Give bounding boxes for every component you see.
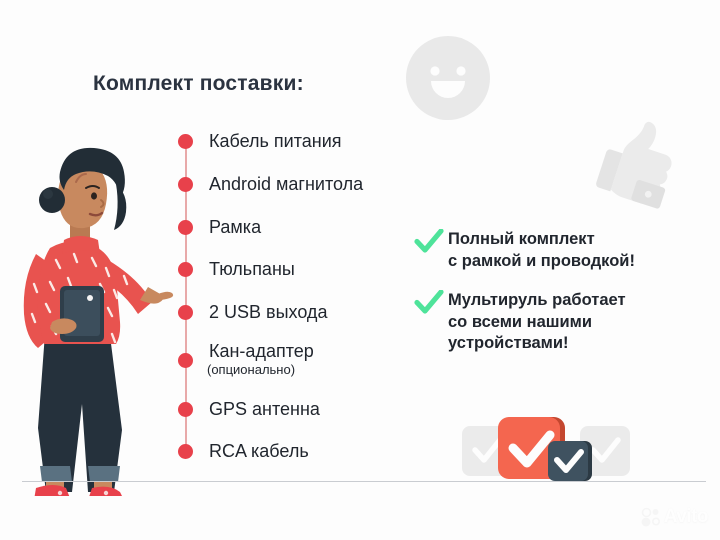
list-item-label: Android магнитола (209, 174, 363, 195)
thumbs-up-icon (580, 108, 692, 220)
page-title: Комплект поставки: (93, 72, 304, 96)
list-item-label: Тюльпаны (209, 259, 295, 280)
list-item: Кабель питания (178, 131, 342, 152)
benefit-line-1: Полный комплект (448, 230, 595, 248)
list-item-label: Кабель питания (209, 131, 342, 152)
benefit-line-3: устройствами! (448, 334, 569, 352)
woman-with-tablet-illustration (8, 108, 183, 496)
list-item-label: RCA кабель (209, 441, 309, 462)
smiley-face-icon (404, 34, 492, 122)
avito-watermark: Avito (641, 506, 708, 528)
green-checkmark-icon (414, 229, 444, 255)
list-item: Тюльпаны (178, 259, 295, 280)
benefit-item: Полный комплект с рамкой и проводкой! (414, 229, 635, 272)
benefit-line-1: Мультируль работает (448, 291, 626, 309)
benefit-text: Мультируль работает со всеми нашими устр… (448, 290, 626, 355)
list-item-label: 2 USB выхода (209, 302, 327, 323)
benefit-text: Полный комплект с рамкой и проводкой! (448, 229, 635, 272)
benefit-line-2: с рамкой и проводкой! (448, 252, 635, 270)
list-item: 2 USB выхода (178, 302, 327, 323)
avito-logo-icon (641, 507, 661, 527)
list-item-label: GPS антенна (209, 399, 320, 420)
list-item: Рамка (178, 217, 261, 238)
list-item-label: Рамка (209, 217, 261, 238)
benefit-item: Мультируль работает со всеми нашими устр… (414, 290, 626, 355)
list-item: Android магнитола (178, 174, 363, 195)
benefit-line-2: со всеми нашими (448, 313, 592, 331)
list-item-sublabel: (опционально) (207, 362, 314, 378)
list-item-label: Кан-адаптер (209, 341, 314, 361)
list-item-text-group: Кан-адаптер (опционально) (193, 341, 314, 378)
green-checkmark-icon (414, 290, 444, 316)
ground-line (22, 481, 706, 482)
list-item: Кан-адаптер (опционально) (178, 341, 314, 378)
promo-image-canvas: Комплект поставки: Кабель питания Androi… (0, 0, 720, 540)
list-item: GPS антенна (178, 399, 320, 420)
checkbox-cards-illustration (460, 412, 630, 484)
avito-watermark-text: Avito (664, 506, 708, 528)
list-item: RCA кабель (178, 441, 309, 462)
